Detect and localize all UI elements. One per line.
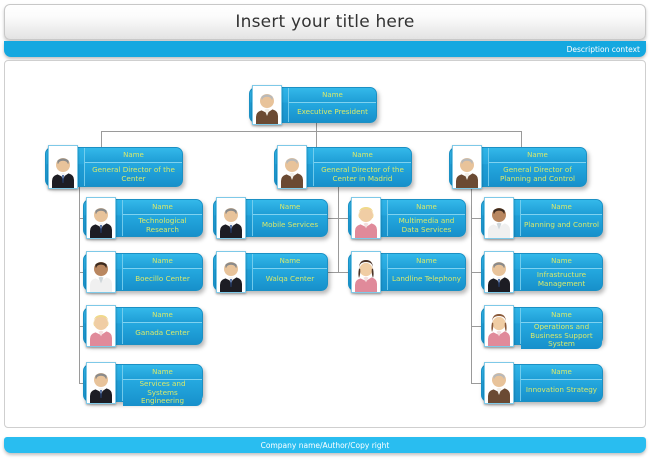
node-role-band: Landline Telephony	[388, 269, 465, 290]
node-role: Ganada Center	[135, 329, 189, 338]
org-node-planning-and-control[interactable]: Name Planning and Control	[481, 199, 603, 237]
footer-bar[interactable]: Company name/Author/Copy right	[4, 437, 646, 453]
node-name: Name	[527, 151, 548, 159]
node-role: Boecillo Center	[135, 275, 190, 284]
title-bar[interactable]: Insert your title here	[4, 4, 646, 40]
node-divider	[252, 254, 253, 290]
node-name-band: Name	[123, 254, 202, 269]
person-photo-icon	[485, 204, 513, 238]
node-name-band: Name	[85, 148, 182, 163]
org-node-services-systems-engineering[interactable]: Name Services and Systems Engineering	[83, 364, 203, 402]
node-divider	[122, 365, 123, 401]
person-photo-icon	[87, 312, 115, 346]
avatar	[349, 254, 383, 290]
node-role: Walqa Center	[266, 275, 315, 284]
person-photo-icon	[87, 204, 115, 238]
node-role-band: Mobile Services	[253, 215, 327, 236]
person-photo-icon	[217, 204, 245, 238]
node-name-band: Name	[123, 200, 202, 215]
node-divider	[387, 200, 388, 236]
node-name: Name	[416, 257, 437, 265]
avatar	[482, 365, 516, 401]
node-name-band: Name	[521, 308, 602, 323]
description-bar[interactable]: Description context	[4, 41, 646, 57]
node-name: Name	[152, 203, 173, 211]
node-role: Landline Telephony	[392, 275, 461, 284]
person-photo-icon	[278, 154, 306, 188]
node-role-band: Operations and Business Support System	[521, 323, 602, 349]
person-photo-icon	[485, 369, 513, 403]
node-role-band: Technological Research	[123, 215, 202, 236]
description-context-label: Description context	[567, 45, 640, 54]
node-role-band: Executive President	[289, 103, 376, 122]
node-name: Name	[280, 203, 301, 211]
node-role-band: Planning and Control	[521, 215, 602, 236]
node-role: General Director of the Center	[87, 166, 180, 183]
chart-canvas[interactable]: Name Executive President Name	[4, 60, 646, 428]
node-name-band: Name	[489, 148, 586, 163]
org-node-technological-research[interactable]: Name Technological Research	[83, 199, 203, 237]
node-divider	[520, 254, 521, 290]
node-role-band: General Director of Planning and Control	[489, 163, 586, 186]
connector-stub-infrastructure	[471, 272, 481, 273]
node-divider	[122, 254, 123, 290]
connector-stub-operations	[471, 326, 481, 327]
avatar	[482, 308, 516, 344]
org-node-general-director-planning[interactable]: Name General Director of Planning and Co…	[449, 147, 587, 187]
node-name: Name	[416, 203, 437, 211]
node-name: Name	[551, 257, 572, 265]
node-name-band: Name	[289, 88, 376, 103]
person-photo-icon	[87, 258, 115, 292]
avatar	[450, 148, 484, 186]
node-name-band: Name	[521, 365, 602, 380]
node-divider	[520, 365, 521, 401]
org-node-walqa-center[interactable]: Name Walqa Center	[213, 253, 328, 291]
org-node-executive-president[interactable]: Name Executive President	[249, 87, 377, 123]
node-divider	[288, 88, 289, 122]
node-divider	[520, 200, 521, 236]
person-photo-icon	[49, 154, 77, 188]
node-role: Technological Research	[125, 217, 200, 234]
node-divider	[387, 254, 388, 290]
connector-trunk-center	[79, 179, 80, 383]
connector-stub-landline	[338, 272, 348, 273]
node-name-band: Name	[314, 148, 411, 163]
org-node-ganada-center[interactable]: Name Ganada Center	[83, 307, 203, 345]
connector-drop-dir-center	[101, 131, 102, 147]
connector-level1-bus	[101, 131, 521, 132]
person-photo-icon	[485, 258, 513, 292]
person-photo-icon	[352, 204, 380, 238]
org-node-mobile-services[interactable]: Name Mobile Services	[213, 199, 328, 237]
org-node-multimedia-data-services[interactable]: Name Multimedia and Data Services	[348, 199, 466, 237]
node-divider	[488, 148, 489, 186]
avatar	[482, 254, 516, 290]
org-node-landline-telephony[interactable]: Name Landline Telephony	[348, 253, 466, 291]
avatar	[482, 200, 516, 236]
avatar	[214, 200, 248, 236]
node-role: General Director of Planning and Control	[491, 166, 584, 183]
node-name-band: Name	[388, 254, 465, 269]
person-photo-icon	[453, 154, 481, 188]
node-role-band: Ganada Center	[123, 323, 202, 344]
connector-stub-planning-control	[471, 218, 481, 219]
connector-drop-dir-madrid	[316, 131, 317, 147]
node-role-band: Services and Systems Engineering	[123, 380, 202, 406]
avatar	[46, 148, 80, 186]
node-name: Name	[123, 151, 144, 159]
node-role: Innovation Strategy	[526, 386, 597, 395]
avatar	[250, 88, 284, 122]
node-role-band: Innovation Strategy	[521, 380, 602, 401]
node-divider	[122, 200, 123, 236]
node-role-band: Infrastructure Management	[521, 269, 602, 290]
node-name-band: Name	[388, 200, 465, 215]
node-role: General Director of the Center in Madrid	[316, 166, 409, 183]
node-name: Name	[352, 151, 373, 159]
node-role-band: General Director of the Center	[85, 163, 182, 186]
node-divider	[122, 308, 123, 344]
node-name: Name	[551, 203, 572, 211]
node-role-band: Walqa Center	[253, 269, 327, 290]
page-title: Insert your title here	[235, 12, 414, 32]
avatar	[84, 254, 118, 290]
connector-trunk-planning	[471, 179, 472, 383]
avatar	[349, 200, 383, 236]
node-name: Name	[551, 311, 572, 319]
node-name: Name	[152, 311, 173, 319]
node-role: Multimedia and Data Services	[390, 217, 463, 234]
org-chart-page: Insert your title here Description conte…	[0, 0, 650, 459]
org-node-boecillo-center[interactable]: Name Boecillo Center	[83, 253, 203, 291]
org-node-infrastructure-management[interactable]: Name Infrastructure Management	[481, 253, 603, 291]
node-name-band: Name	[123, 308, 202, 323]
node-name: Name	[152, 257, 173, 265]
person-photo-icon	[87, 369, 115, 403]
node-divider	[313, 148, 314, 186]
node-role-band: General Director of the Center in Madrid	[314, 163, 411, 186]
node-role: Mobile Services	[262, 221, 318, 230]
org-node-operations-business-support[interactable]: Name Operations and Business Support Sys…	[481, 307, 603, 345]
node-role: Planning and Control	[524, 221, 599, 230]
node-name: Name	[280, 257, 301, 265]
node-role: Operations and Business Support System	[523, 323, 600, 349]
node-name: Name	[322, 91, 343, 99]
connector-stub-multimedia	[338, 218, 348, 219]
connector-stub-innovation	[471, 383, 481, 384]
node-name: Name	[551, 368, 572, 376]
person-photo-icon	[352, 258, 380, 292]
node-name-band: Name	[521, 200, 602, 215]
connector-drop-dir-planning	[521, 131, 522, 147]
node-role: Services and Systems Engineering	[125, 380, 200, 406]
node-role-band: Boecillo Center	[123, 269, 202, 290]
connector-trunk-madrid	[338, 179, 339, 272]
node-name-band: Name	[521, 254, 602, 269]
node-divider	[84, 148, 85, 186]
person-photo-icon	[485, 312, 513, 346]
org-node-general-director-center[interactable]: Name General Director of the Center	[45, 147, 183, 187]
node-name-band: Name	[123, 365, 202, 380]
footer-label: Company name/Author/Copy right	[261, 441, 390, 450]
avatar	[84, 200, 118, 236]
node-name-band: Name	[253, 200, 327, 215]
node-divider	[520, 308, 521, 344]
node-divider	[252, 200, 253, 236]
org-node-general-director-madrid[interactable]: Name General Director of the Center in M…	[274, 147, 412, 187]
node-name-band: Name	[253, 254, 327, 269]
node-role-band: Multimedia and Data Services	[388, 215, 465, 236]
node-name: Name	[152, 368, 173, 376]
node-role: Infrastructure Management	[523, 271, 600, 288]
org-node-innovation-strategy[interactable]: Name Innovation Strategy	[481, 364, 603, 402]
avatar	[84, 308, 118, 344]
avatar	[214, 254, 248, 290]
avatar	[275, 148, 309, 186]
person-photo-icon	[253, 90, 281, 124]
node-role: Executive President	[297, 108, 368, 117]
avatar	[84, 365, 118, 401]
person-photo-icon	[217, 258, 245, 292]
